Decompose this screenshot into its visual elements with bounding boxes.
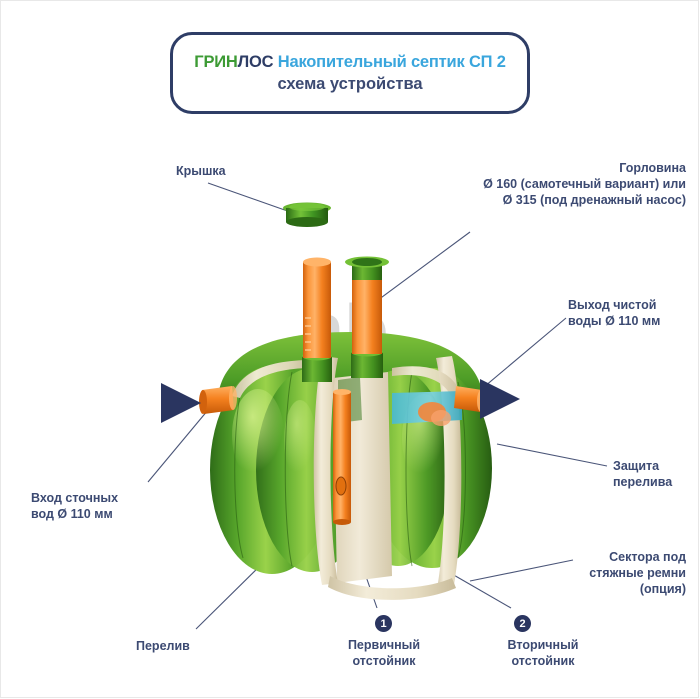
badge-1: 1 — [375, 615, 392, 632]
riser-left — [302, 258, 332, 383]
brand-los: ЛОС — [238, 53, 274, 71]
badge-2: 2 — [514, 615, 531, 632]
product-name: Накопительный септик СП 2 — [273, 53, 505, 71]
title-line-1: ГРИНЛОС Накопительный септик СП 2 — [194, 53, 505, 72]
callout-zashchita-pereliva: Защита перелива — [613, 458, 699, 490]
outlet-port — [454, 386, 485, 412]
overflow-pipe — [333, 389, 351, 525]
inlet-port — [199, 386, 237, 414]
label-vtorichnyy-otstoynik: Вторичный отстойник — [492, 637, 594, 669]
callout-vyhod-chistoy-vody: Выход чистой воды Ø 110 мм — [568, 297, 698, 329]
callout-sektora-remni: Сектора под стяжные ремни (опция) — [566, 549, 686, 597]
diagram-page: nb — [0, 0, 700, 699]
riser-right — [345, 257, 389, 379]
callout-vhod-stochnyh-vod: Вход сточных вод Ø 110 мм — [31, 490, 161, 522]
callout-kryshka: Крышка — [176, 163, 226, 179]
title-card: ГРИНЛОС Накопительный септик СП 2 схема … — [170, 32, 530, 114]
lid-part — [283, 203, 331, 228]
title-subtitle: схема устройства — [277, 75, 422, 94]
brand-grin: ГРИН — [194, 53, 237, 71]
callout-gorlovina: Горловина Ø 160 (самотечный вариант) или… — [436, 160, 686, 208]
callout-pereliv: Перелив — [136, 638, 190, 654]
label-pervichnyy-otstoynik: Первичный отстойник — [333, 637, 435, 669]
